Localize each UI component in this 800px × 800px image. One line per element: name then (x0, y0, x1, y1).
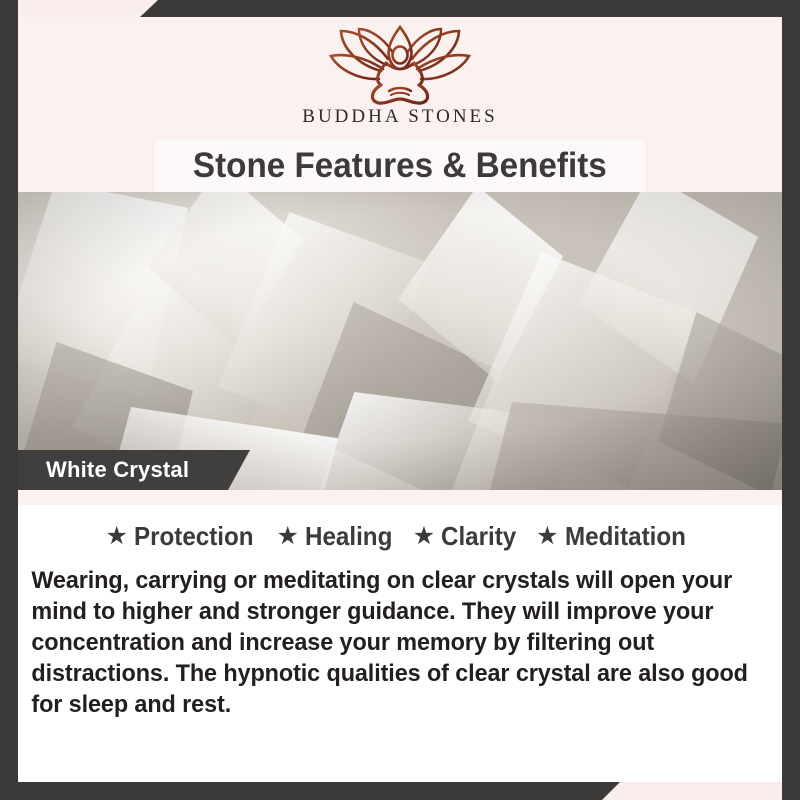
stone-photo (18, 192, 782, 490)
feature-label: Protection (134, 521, 254, 552)
stone-name-banner: White Crystal (18, 450, 250, 490)
brand-logo-block: BUDDHA STONES (0, 17, 800, 137)
star-icon: ★ (105, 524, 127, 549)
title-banner: Stone Features & Benefits (155, 140, 645, 192)
brand-name: BUDDHA STONES (302, 106, 497, 128)
description-text: Wearing, carrying or meditating on clear… (18, 559, 780, 721)
feature-label: Healing (305, 521, 392, 552)
feature-item-clarity: ★ Clarity (413, 521, 522, 552)
lotus-meditation-icon (325, 23, 475, 105)
feature-item-healing: ★ Healing (276, 521, 398, 552)
feature-label: Meditation (565, 521, 686, 552)
frame-band-bottom (0, 782, 620, 800)
feature-item-meditation: ★ Meditation (536, 521, 694, 552)
page-title: Stone Features & Benefits (193, 146, 607, 186)
star-icon: ★ (536, 524, 558, 549)
infographic-card: BUDDHA STONES Stone Features & Benefits … (0, 0, 800, 800)
feature-item-protection: ★ Protection (105, 521, 262, 552)
feature-list: ★ Protection ★ Healing ★ Clarity ★ Medit… (18, 513, 782, 559)
feature-label: Clarity (441, 521, 516, 552)
star-icon: ★ (276, 524, 298, 549)
photo-vignette (18, 192, 782, 490)
content-area: ★ Protection ★ Healing ★ Clarity ★ Medit… (18, 505, 782, 782)
star-icon: ★ (413, 524, 435, 549)
frame-band-top (140, 0, 800, 17)
stone-name-label: White Crystal (18, 457, 189, 483)
